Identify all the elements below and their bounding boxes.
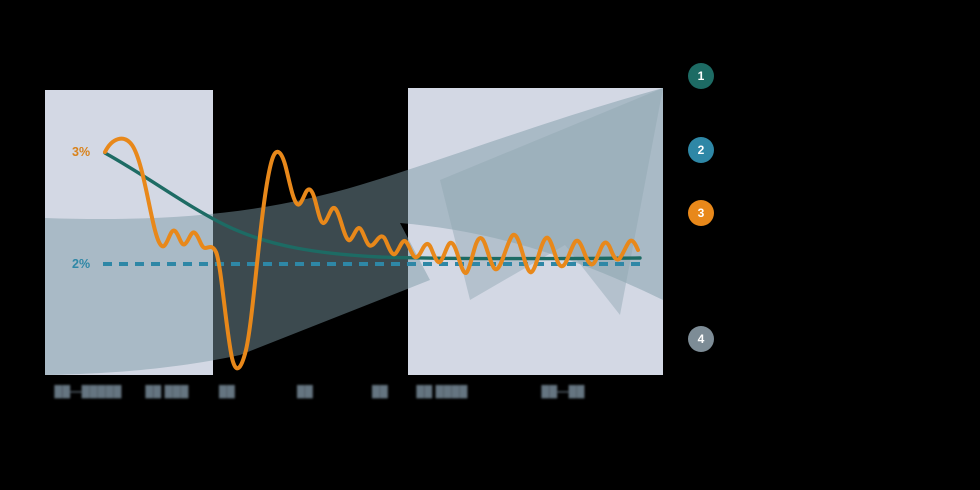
x-tick-4: ██	[372, 386, 388, 398]
legend-badge-3[interactable]: 3	[688, 200, 714, 226]
x-tick-1: ██ ███	[145, 386, 188, 398]
top-value-label: 3%	[72, 145, 90, 159]
x-tick-0: ██—█████	[54, 386, 121, 398]
legend-item-4[interactable]: 4	[688, 326, 724, 352]
x-tick-6: ██—██	[541, 386, 584, 398]
legend-badge-2[interactable]: 2	[688, 137, 714, 163]
legend-item-3[interactable]: 3	[688, 200, 724, 226]
x-tick-2: ██	[219, 386, 235, 398]
x-axis-tick-labels: ██—█████ ██ ███ ██ ██ ██ ██ ████ ██—██	[0, 386, 680, 408]
x-tick-5: ██ ████	[416, 386, 467, 398]
chart-canvas: 3% 2% ██—█████ ██ ███ ██ ██ ██ ██ ████ █…	[0, 0, 980, 490]
x-tick-3: ██	[297, 386, 313, 398]
legend-item-2[interactable]: 2	[688, 137, 724, 163]
legend-badge-1[interactable]: 1	[688, 63, 714, 89]
legend-item-1[interactable]: 1	[688, 63, 724, 89]
target-value-label: 2%	[72, 257, 90, 271]
legend-badge-4[interactable]: 4	[688, 326, 714, 352]
legend: 1 2 3 4	[688, 50, 973, 370]
